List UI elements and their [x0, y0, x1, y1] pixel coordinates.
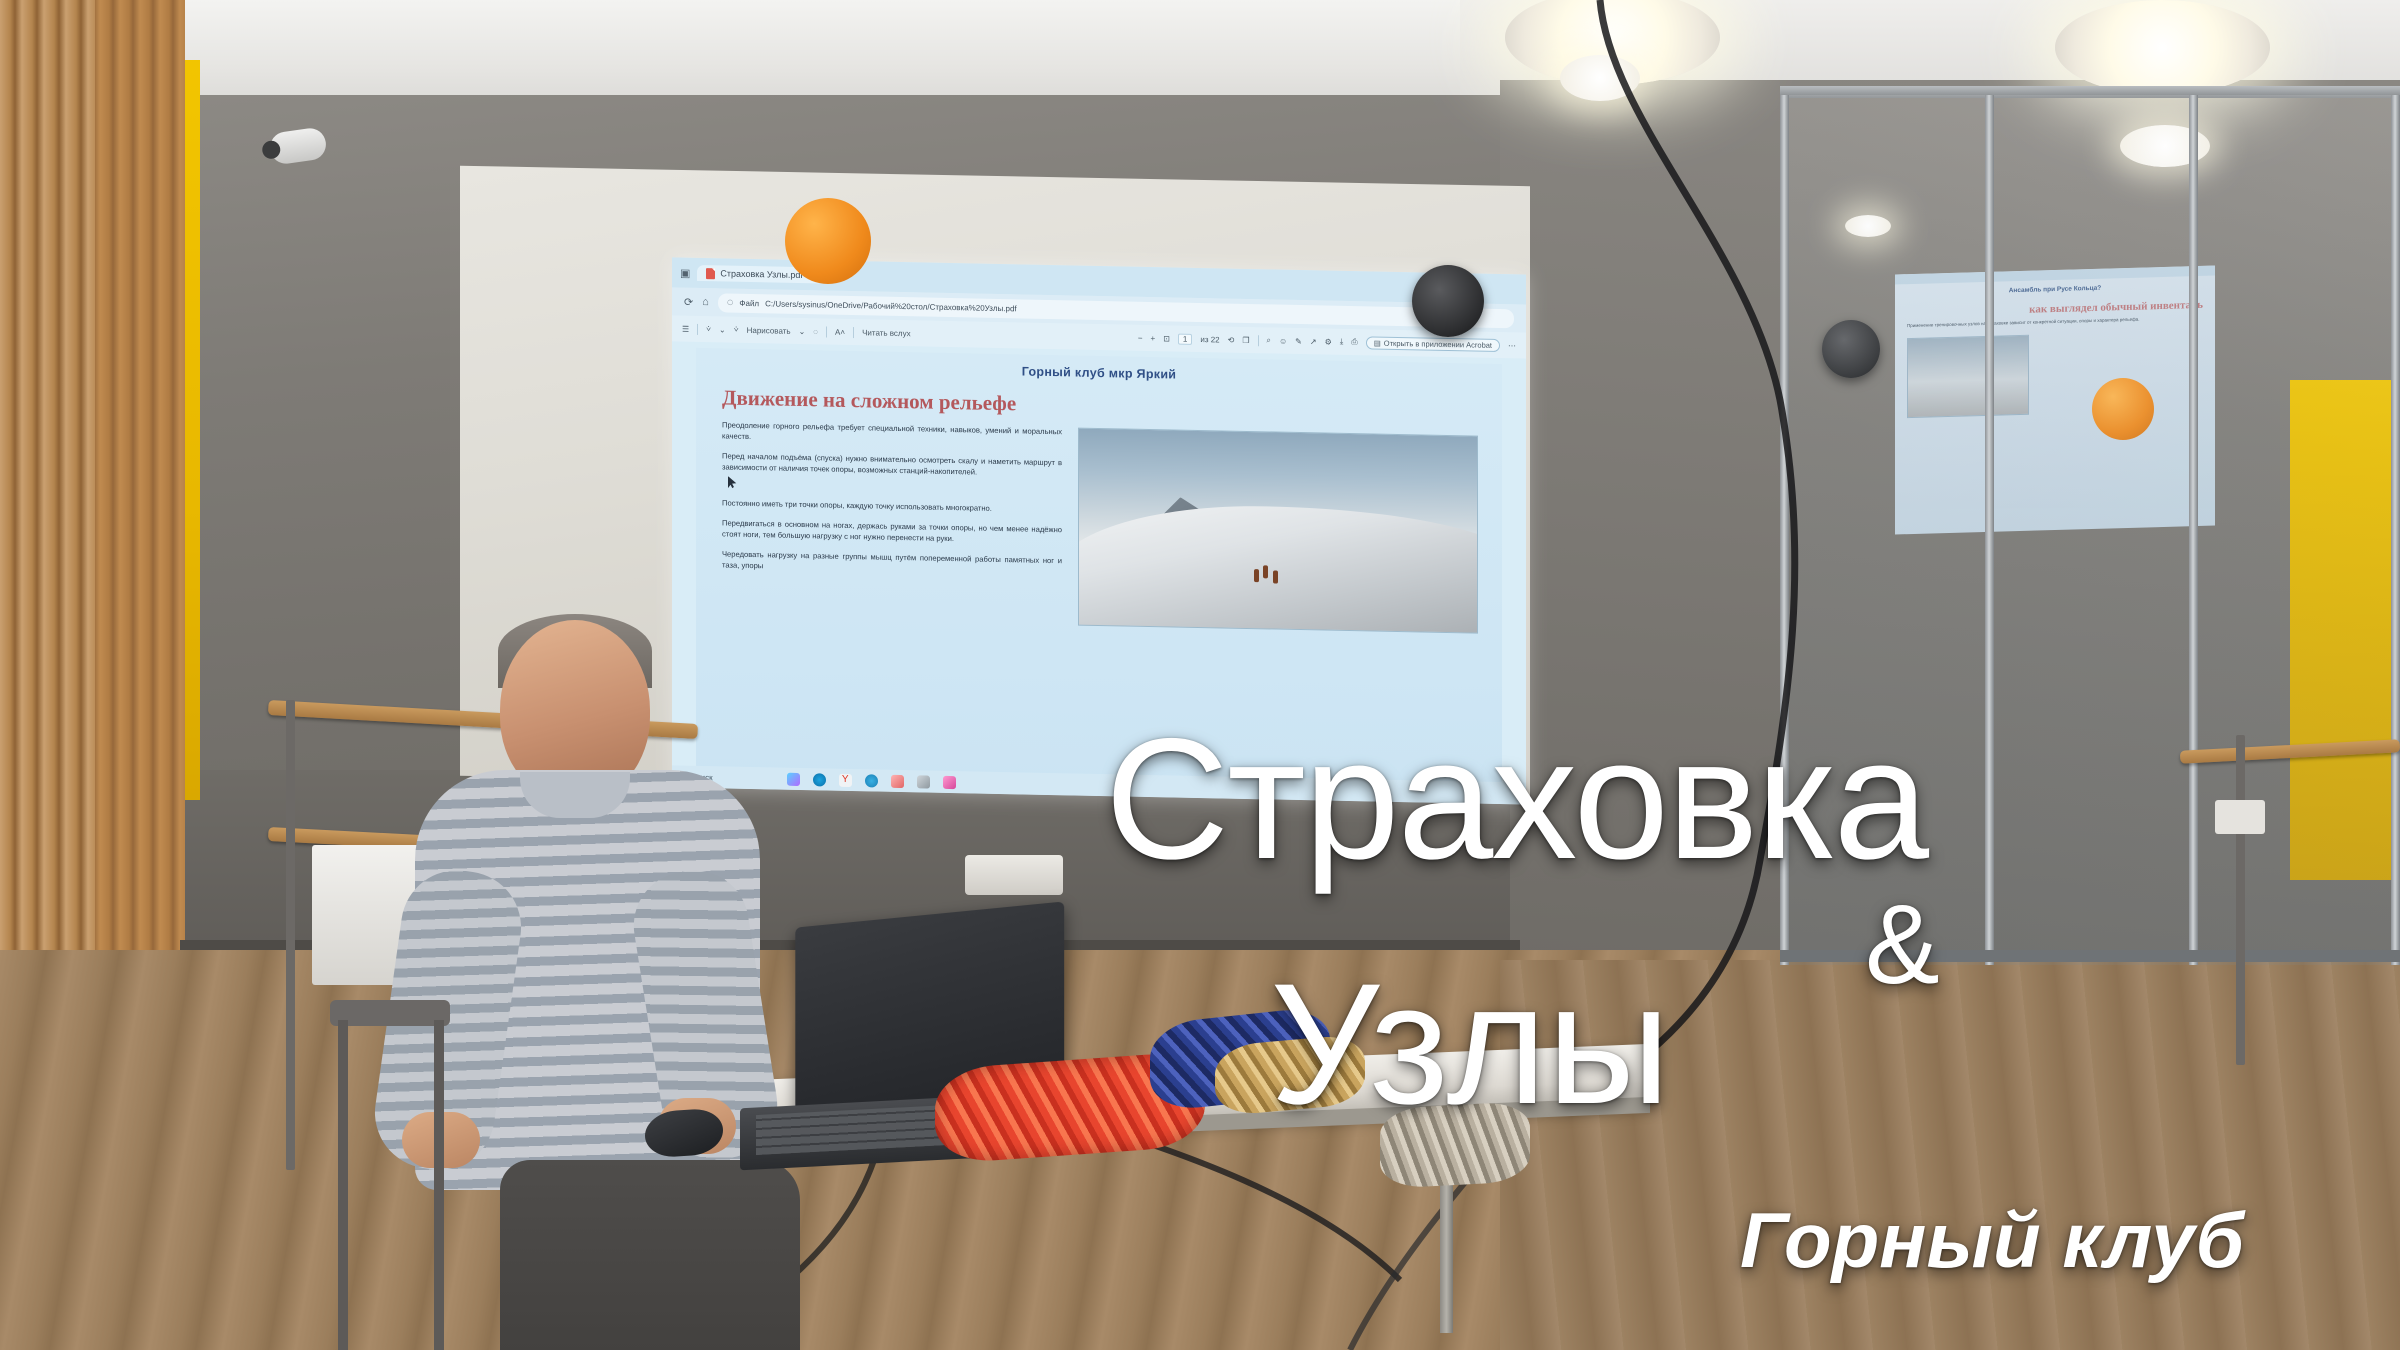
overlay-caption: Горный клуб	[1740, 1195, 2244, 1286]
divider	[1258, 335, 1259, 346]
glass-pane	[2198, 95, 2400, 965]
document-paragraph: Передвигаться в основном на ногах, держа…	[722, 517, 1062, 546]
document-paragraph: Перед началом подъёма (спуска) нужно вни…	[722, 450, 1062, 479]
draw2-icon[interactable]: ✎	[1295, 336, 1302, 345]
zoom-out-button[interactable]: −	[1138, 333, 1143, 342]
barre-post	[2236, 735, 2245, 1065]
pdf-file-icon	[706, 268, 715, 279]
comment-icon[interactable]: ☺	[1279, 336, 1287, 345]
acrobat-icon: ▤	[1374, 338, 1381, 347]
taskbar-app-icons: Y	[787, 772, 956, 788]
divider	[697, 323, 698, 334]
telegram-icon[interactable]	[865, 774, 878, 787]
shield-icon: ◌	[727, 297, 734, 309]
settings-icon[interactable]: ⚙	[1325, 337, 1332, 346]
highlight-icon[interactable]: ⩒	[706, 324, 711, 334]
edge-icon[interactable]	[813, 773, 826, 786]
toolbar-spacer	[919, 333, 1130, 337]
document-title: Движение на сложном рельефе	[722, 386, 1062, 416]
zoom-in-button[interactable]: +	[1151, 334, 1156, 343]
power-outlet	[965, 855, 1063, 895]
chair-back	[330, 1000, 450, 1026]
tab-overview-icon[interactable]: ▣	[680, 266, 690, 279]
more-options-icon[interactable]: ⋯	[1508, 341, 1516, 350]
search-icon[interactable]: ⌕	[1267, 335, 1271, 345]
document-paragraph: Постоянно иметь три точки опоры, каждую …	[722, 497, 1062, 515]
divider	[826, 326, 827, 337]
page-view-icon[interactable]: ❐	[1242, 335, 1249, 344]
climbers-figures	[1254, 565, 1288, 590]
barre-post	[286, 700, 295, 1170]
pen-icon[interactable]: ⩒	[734, 325, 739, 335]
orange-balloon-icon	[785, 198, 871, 284]
eraser-icon[interactable]: ◌	[813, 327, 818, 336]
draw-label[interactable]: Нарисовать	[747, 325, 791, 335]
photo-stage: ▣ Страховка Узлы.pdf × + ⟳ ⌂ ◌ Файл C:/U…	[0, 0, 2400, 1350]
glass-mullion	[2391, 95, 2400, 965]
open-in-acrobat-button[interactable]: ▤ Открыть в приложении Acrobat	[1366, 336, 1500, 352]
ceiling-lamp-icon	[1560, 55, 1640, 101]
legs	[500, 1160, 800, 1350]
chair-leg	[434, 1020, 444, 1350]
overlay-title-line2: Узлы	[1270, 945, 1671, 1143]
chevron-down-icon[interactable]: ⌄	[719, 325, 726, 334]
page-total: из 22	[1200, 335, 1219, 344]
chair-leg	[338, 1020, 348, 1350]
glass-mullion	[2189, 95, 2198, 965]
text-size-icon[interactable]: A˄	[835, 327, 845, 336]
read-aloud-label[interactable]: Читать вслух	[862, 328, 911, 338]
store-icon[interactable]	[917, 775, 930, 788]
document-paragraph: Преодоление горного рельефа требует спец…	[722, 419, 1062, 448]
open-acrobat-label: Открыть в приложении Acrobat	[1384, 338, 1492, 349]
ceiling-lamp-icon	[2055, 0, 2270, 95]
power-outlet	[2215, 800, 2265, 834]
overlay-ampersand: &	[1865, 880, 1940, 1009]
document-text-column: Движение на сложном рельефе Преодоление …	[722, 386, 1062, 625]
chair	[330, 1000, 460, 1340]
glass-mullion	[1985, 95, 1994, 965]
home-icon[interactable]: ⌂	[702, 296, 709, 308]
rotate-icon[interactable]: ⟲	[1228, 335, 1235, 344]
yandex-icon[interactable]: Y	[839, 773, 852, 786]
ceiling-speaker-icon	[1412, 265, 1484, 337]
print-icon[interactable]: ⎙	[1351, 337, 1357, 347]
photos-icon[interactable]	[891, 774, 904, 787]
security-label: Файл	[739, 298, 759, 307]
page-number-input[interactable]: 1	[1178, 333, 1192, 344]
document-paragraph: Чередовать нагрузку на разные группы мыш…	[722, 548, 1062, 577]
mouse-cursor-icon	[728, 476, 737, 488]
snow-mountain-ridge-photo	[1078, 428, 1478, 634]
chevron-down-icon[interactable]: ⌄	[799, 326, 806, 335]
tab-title: Страховка Узлы.pdf	[720, 268, 802, 280]
save-icon[interactable]: ⤓	[1340, 337, 1344, 347]
share-icon[interactable]: ↗	[1310, 337, 1317, 346]
sidebar-toggle-icon[interactable]: ☰	[682, 324, 689, 333]
overlay-title-line1: Страховка	[1105, 700, 1927, 898]
address-bar-url: C:/Users/sysinus/OneDrive/Рабочий%20стол…	[765, 299, 1017, 313]
fit-page-icon[interactable]: ⊡	[1163, 334, 1170, 343]
divider	[853, 327, 854, 338]
reload-icon[interactable]: ⟳	[684, 295, 693, 308]
glass-pane	[1994, 95, 2189, 965]
app-icon[interactable]	[943, 775, 956, 788]
document-columns: Движение на сложном рельефе Преодоление …	[696, 372, 1502, 634]
document-image-column	[1078, 394, 1476, 634]
